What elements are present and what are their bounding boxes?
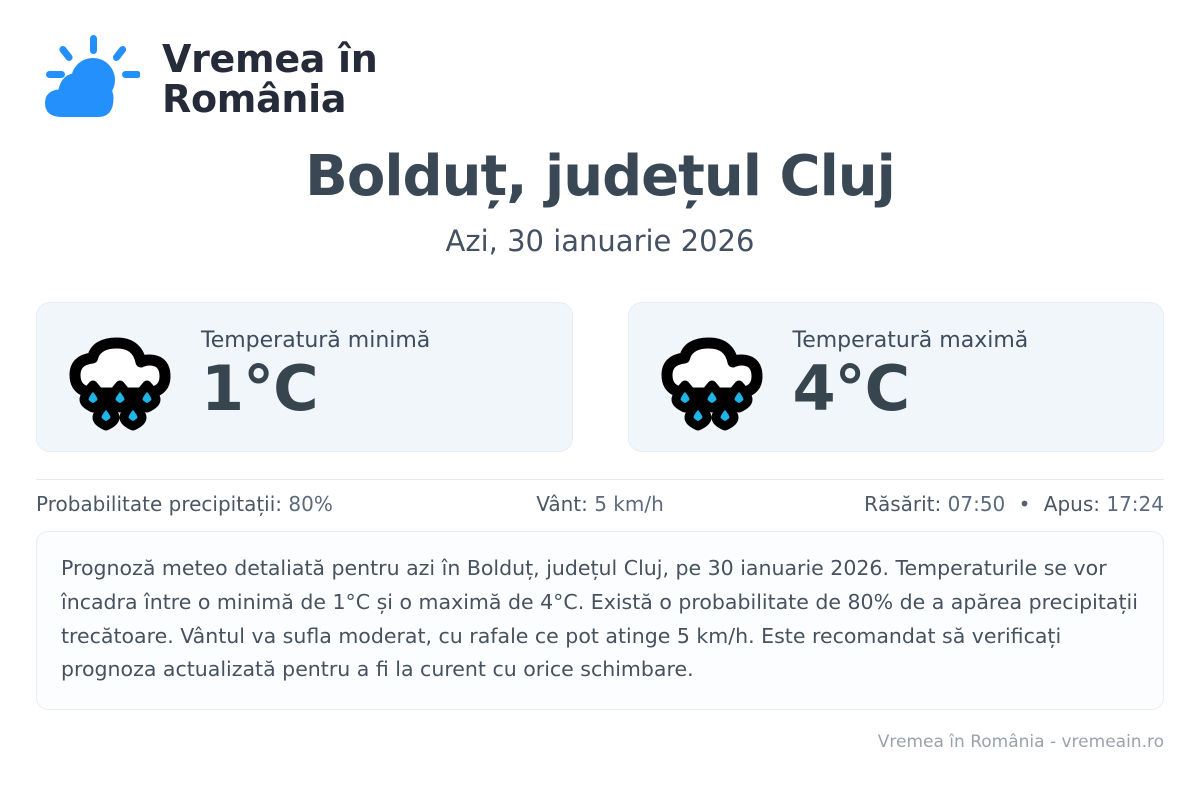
forecast-description: Prognoză meteo detaliată pentru azi în B… [36, 531, 1164, 709]
sunrise-label: Răsărit: [864, 492, 941, 516]
sunset-value: 17:24 [1106, 492, 1164, 516]
sunrise-value: 07:50 [948, 492, 1006, 516]
rain-cloud-icon [655, 323, 771, 431]
sunset-label: Apus: [1044, 492, 1100, 516]
sun-times-stat: Răsărit: 07:50 • Apus: 17:24 [788, 492, 1164, 516]
precipitation-value: 80% [288, 492, 332, 516]
max-temperature-card: Temperatură maximă 4°C [628, 302, 1165, 452]
page-title: Bolduț, județul Cluj [36, 146, 1164, 208]
min-temperature-card: Temperatură minimă 1°C [36, 302, 573, 452]
max-temperature-label: Temperatură maximă [793, 327, 1029, 355]
max-temperature-value: 4°C [793, 354, 1029, 423]
wind-label: Vânt: [536, 492, 588, 516]
wind-value: 5 km/h [594, 492, 664, 516]
min-temperature-texts: Temperatură minimă 1°C [201, 327, 430, 424]
wind-stat: Vânt: 5 km/h [412, 492, 788, 516]
date-subtitle: Azi, 30 ianuarie 2026 [36, 224, 1164, 259]
site-branding: Vremea în România [36, 0, 1164, 108]
sun-times-separator: • [1012, 492, 1038, 516]
precipitation-label: Probabilitate precipitații: [36, 492, 282, 516]
sun-behind-cloud-icon [36, 31, 140, 127]
weather-stats-row: Probabilitate precipitații: 80% Vânt: 5 … [36, 480, 1164, 528]
weather-page: Vremea în România Bolduț, județul Cluj A… [0, 0, 1200, 800]
precipitation-stat: Probabilitate precipitații: 80% [36, 492, 412, 516]
brand-name: Vremea în România [162, 39, 378, 120]
temperature-cards: Temperatură minimă 1°C Temper [36, 302, 1164, 452]
max-temperature-texts: Temperatură maximă 4°C [793, 327, 1029, 424]
site-footer: Vremea în România - vremeain.ro [36, 732, 1164, 752]
min-temperature-label: Temperatură minimă [201, 327, 430, 355]
min-temperature-value: 1°C [201, 354, 430, 423]
rain-cloud-icon [63, 323, 179, 431]
